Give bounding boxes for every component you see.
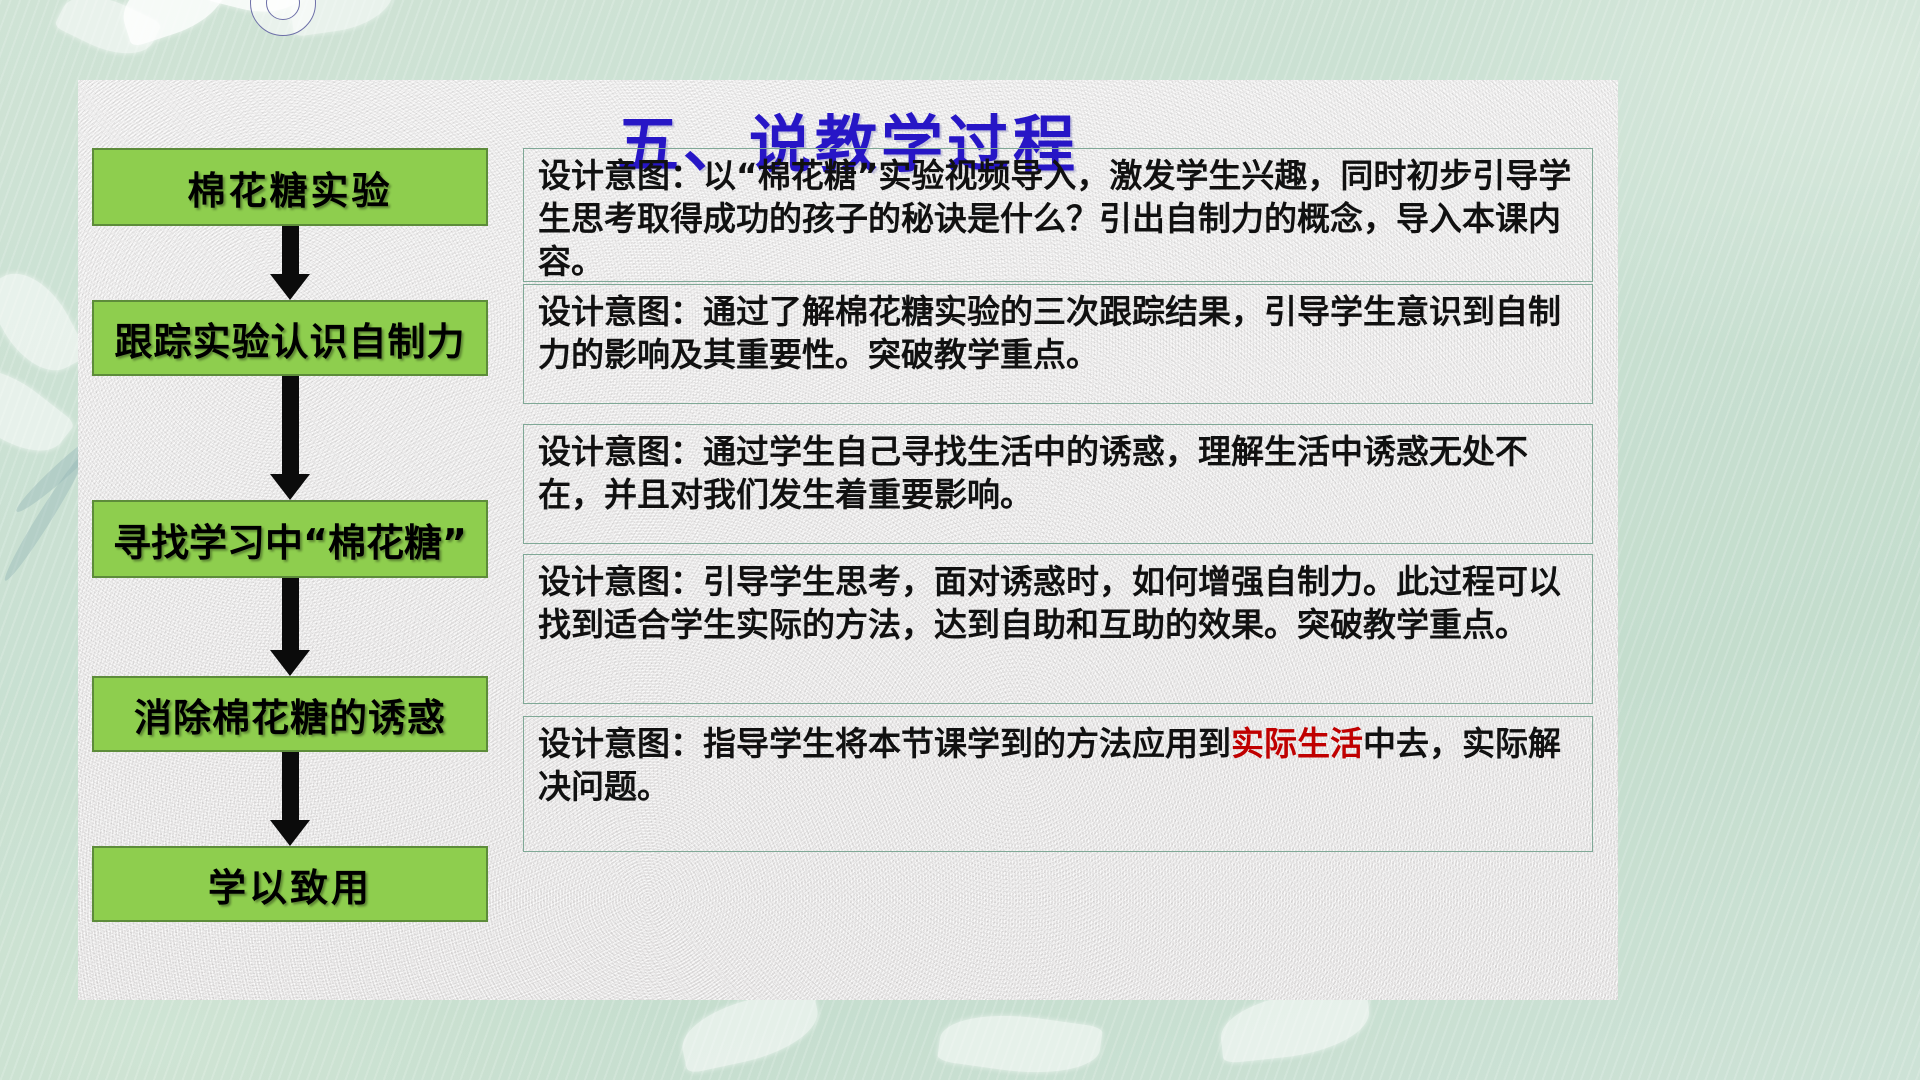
design-intent-note-4[interactable]: 设计意图：引导学生思考，面对诱惑时，如何增强自制力。此过程可以找到适合学生实际的… — [523, 554, 1593, 704]
flow-step-2[interactable]: 跟踪实验认识自制力 — [92, 300, 488, 376]
flower-center-icon — [250, 0, 316, 36]
note-text: 设计意图：通过了解棉花糖实验的三次跟踪结果，引导学生意识到自制力的影响及其重要性… — [538, 292, 1561, 374]
design-intent-note-2[interactable]: 设计意图：通过了解棉花糖实验的三次跟踪结果，引导学生意识到自制力的影响及其重要性… — [523, 284, 1593, 404]
flow-step-2-label: 跟踪实验认识自制力 — [114, 311, 465, 366]
flow-step-5-label: 学以致用 — [208, 857, 372, 912]
flow-arrow-3 — [270, 578, 310, 676]
process-flow-chart: 棉花糖实验 跟踪实验认识自制力 寻找学习中“棉花糖” 消除棉花糖的诱惑 — [92, 148, 502, 988]
highlighted-text: 实际生活 — [1231, 724, 1363, 763]
note-text: 设计意图：指导学生将本节课学到的方法应用到 — [538, 724, 1231, 763]
flow-step-1[interactable]: 棉花糖实验 — [92, 148, 488, 226]
design-intent-note-1[interactable]: 设计意图：以“棉花糖”实验视频导入，激发学生兴趣，同时初步引导学生思考取得成功的… — [523, 148, 1593, 282]
flower-center-inner-icon — [266, 0, 300, 20]
note-text: 设计意图：以“棉花糖”实验视频导入，激发学生兴趣，同时初步引导学生思考取得成功的… — [538, 156, 1571, 281]
flow-arrow-4 — [270, 752, 310, 846]
note-text: 设计意图：引导学生思考，面对诱惑时，如何增强自制力。此过程可以找到适合学生实际的… — [538, 562, 1561, 644]
flow-step-4[interactable]: 消除棉花糖的诱惑 — [92, 676, 488, 752]
flow-step-3-label: 寻找学习中“棉花糖” — [113, 512, 467, 567]
flow-arrow-1 — [270, 226, 310, 300]
flow-arrow-2 — [270, 376, 310, 500]
slide-canvas: 五、说教学过程 棉花糖实验 跟踪实验认识自制力 寻找学习中“棉花糖” — [0, 0, 1920, 1080]
flow-step-5[interactable]: 学以致用 — [92, 846, 488, 922]
flow-step-3[interactable]: 寻找学习中“棉花糖” — [92, 500, 488, 578]
flow-step-4-label: 消除棉花糖的诱惑 — [134, 687, 446, 742]
design-intent-note-3[interactable]: 设计意图：通过学生自己寻找生活中的诱惑，理解生活中诱惑无处不在，并且对我们发生着… — [523, 424, 1593, 544]
flow-step-1-label: 棉花糖实验 — [187, 160, 392, 215]
content-panel: 五、说教学过程 棉花糖实验 跟踪实验认识自制力 寻找学习中“棉花糖” — [78, 80, 1618, 1000]
design-intent-note-5[interactable]: 设计意图：指导学生将本节课学到的方法应用到实际生活中去，实际解决问题。 — [523, 716, 1593, 852]
note-text: 设计意图：通过学生自己寻找生活中的诱惑，理解生活中诱惑无处不在，并且对我们发生着… — [538, 432, 1528, 514]
